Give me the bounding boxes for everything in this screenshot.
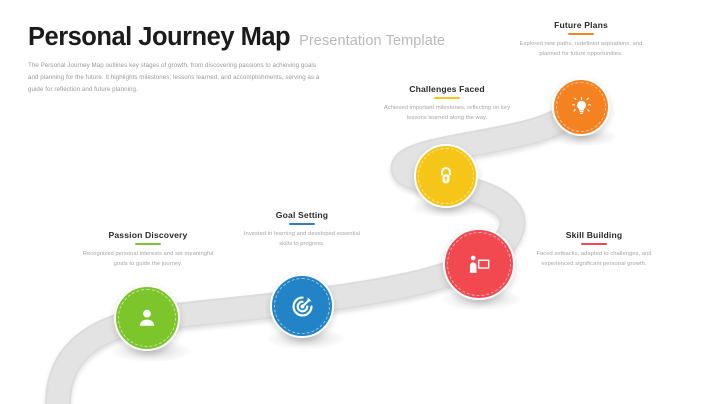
label-challenges-faced: Challenges Faced Achieved important mile… xyxy=(378,84,516,124)
label-desc-future-plans: Explored new paths, redefined aspiration… xyxy=(516,39,646,60)
page-title: Personal Journey Map xyxy=(28,24,290,51)
padlock-icon xyxy=(434,164,458,188)
label-goal-setting: Goal Setting Invested in learning and de… xyxy=(243,210,361,250)
page-subtitle: Presentation Template xyxy=(299,33,445,49)
label-title-goal-setting: Goal Setting xyxy=(243,210,361,220)
label-desc-passion-discovery: Recognized personal interests and set me… xyxy=(78,249,218,270)
title-row: Personal Journey Map Presentation Templa… xyxy=(28,24,448,51)
circle-skill-building[interactable] xyxy=(443,228,515,300)
target-icon xyxy=(290,294,315,319)
circle-goal-setting[interactable] xyxy=(270,274,334,338)
slide-canvas: Personal Journey Map Presentation Templa… xyxy=(0,0,720,404)
label-rule-goal-setting xyxy=(289,223,315,225)
label-rule-passion-discovery xyxy=(135,243,161,245)
circle-challenges-faced[interactable] xyxy=(414,144,478,208)
label-rule-future-plans xyxy=(568,33,594,35)
intro-paragraph: The Personal Journey Map outlines key st… xyxy=(28,60,324,96)
label-title-skill-building: Skill Building xyxy=(524,230,664,240)
presentation-icon xyxy=(466,251,493,278)
circle-future-plans[interactable] xyxy=(552,78,610,136)
label-title-challenges-faced: Challenges Faced xyxy=(378,84,516,94)
label-desc-challenges-faced: Achieved important milestones, reflectin… xyxy=(378,103,516,124)
lightbulb-icon xyxy=(570,96,593,119)
label-skill-building: Skill Building Faced setbacks, adapted t… xyxy=(524,230,664,270)
label-desc-skill-building: Faced setbacks, adapted to challenges, a… xyxy=(524,249,664,270)
label-passion-discovery: Passion Discovery Recognized personal in… xyxy=(78,230,218,270)
label-title-passion-discovery: Passion Discovery xyxy=(78,230,218,240)
circle-passion-discovery[interactable] xyxy=(114,285,180,351)
label-future-plans: Future Plans Explored new paths, redefin… xyxy=(516,20,646,60)
label-title-future-plans: Future Plans xyxy=(516,20,646,30)
label-rule-challenges-faced xyxy=(434,97,460,99)
label-desc-goal-setting: Invested in learning and developed essen… xyxy=(243,229,361,250)
label-rule-skill-building xyxy=(581,243,607,245)
person-icon xyxy=(134,305,160,331)
